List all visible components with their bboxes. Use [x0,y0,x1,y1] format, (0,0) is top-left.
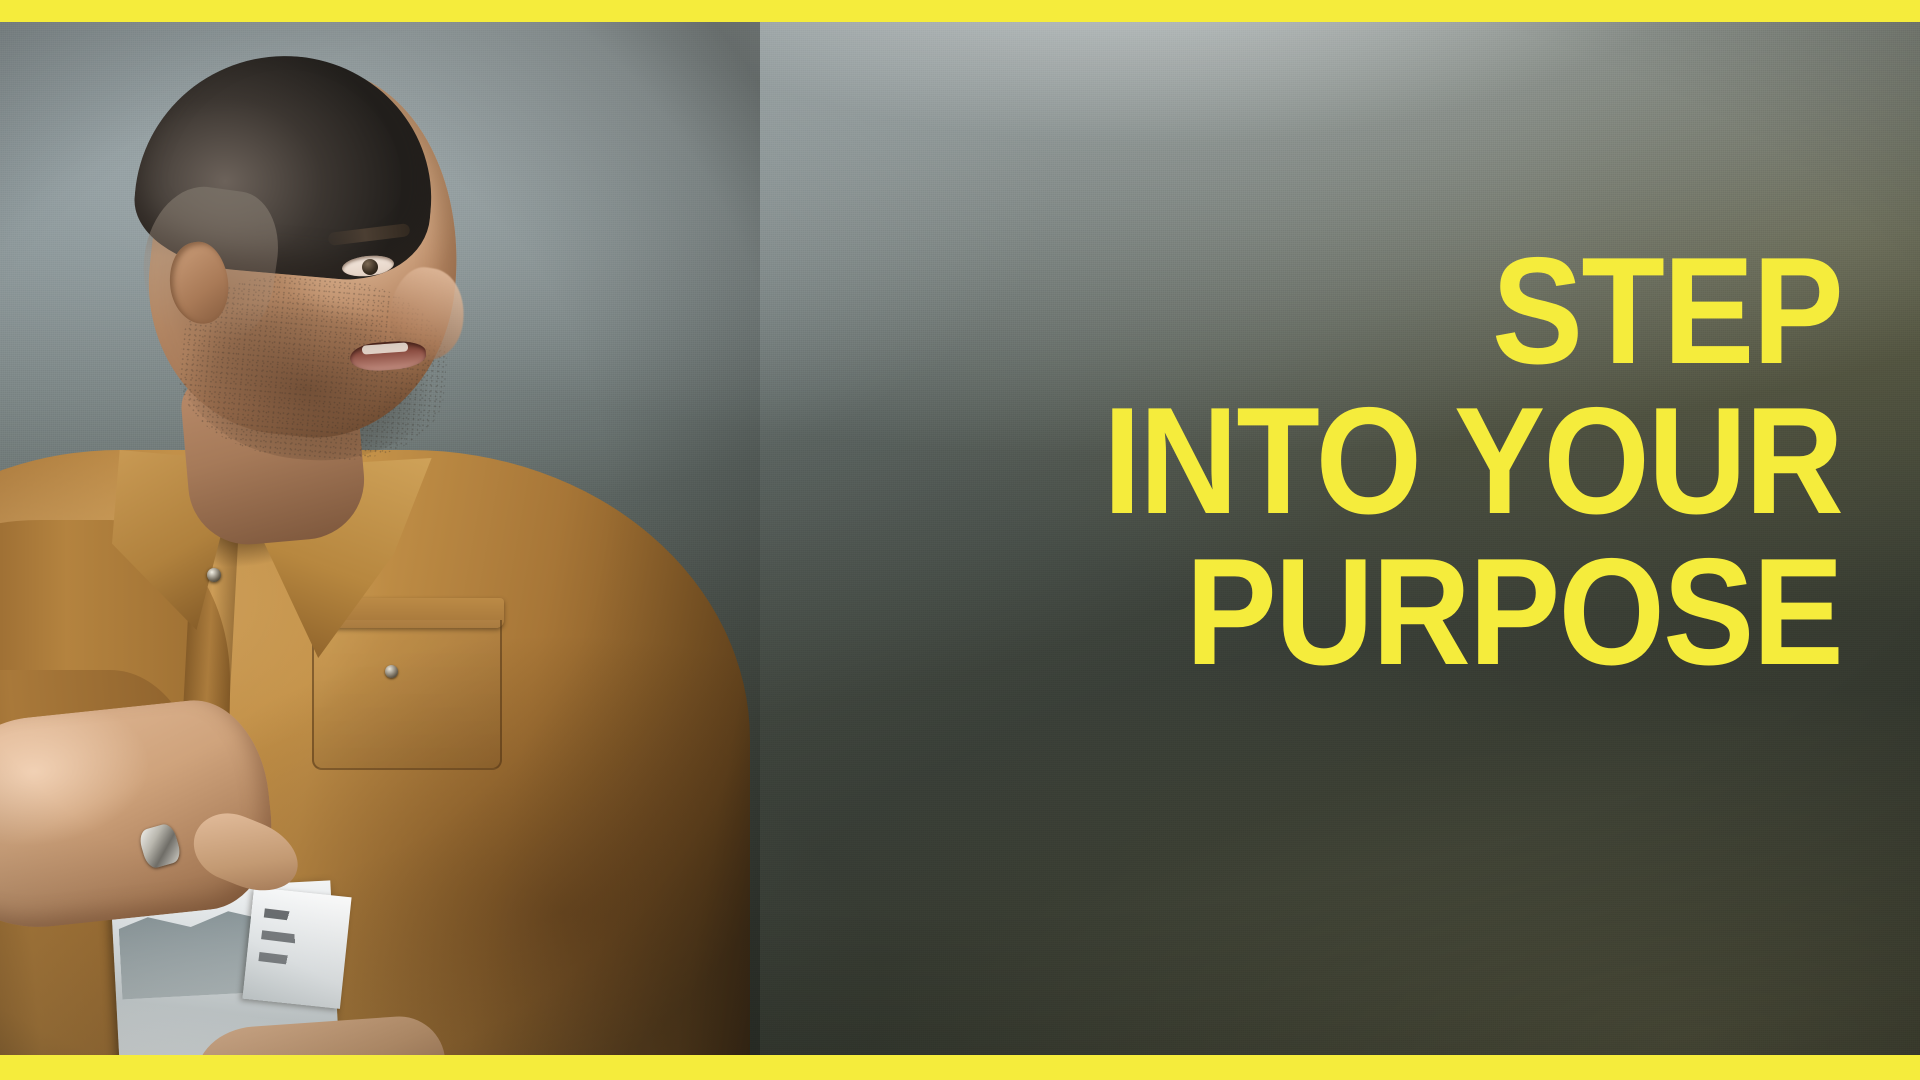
headline-line-2: INTO YOUR [762,386,1842,536]
shirt-button [207,568,221,582]
speaker-pupil [362,259,378,275]
handwriting-marks [255,902,329,997]
speaker-figure [0,20,760,1080]
bottom-accent-bar [0,1055,1920,1080]
shirt-chest-pocket [312,620,502,770]
headline-line-3: PURPOSE [762,537,1842,687]
headline-line-1: STEP [762,236,1842,386]
top-accent-bar [0,0,1920,22]
pocket-button [385,665,398,678]
thumbnail-canvas: STEP INTO YOUR PURPOSE [0,0,1920,1080]
headline-text-block: STEP INTO YOUR PURPOSE [762,236,1842,687]
